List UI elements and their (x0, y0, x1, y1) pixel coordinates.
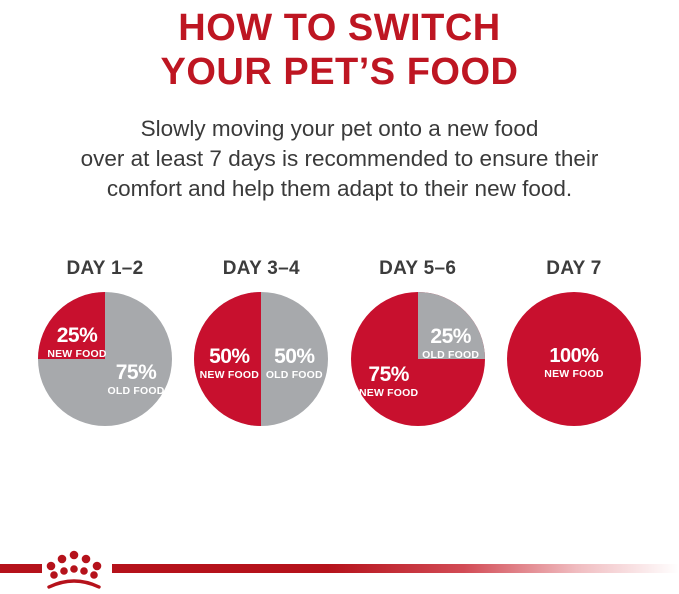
day-label-4: DAY 7 (546, 258, 601, 280)
intro-line-1: Slowly moving your pet onto a new food (0, 114, 679, 144)
intro-paragraph: Slowly moving your pet onto a new food o… (0, 114, 679, 204)
pie-slice-new-food-2 (194, 292, 261, 426)
crown-logo-icon (42, 542, 112, 590)
pie-slice-old-food-3 (418, 292, 485, 359)
pie-svg-4 (507, 292, 641, 426)
pie-slice-new-food-4 (507, 292, 641, 426)
pie-chart-day-3-4: DAY 3–4 50% NEW FOOD 50% OLD FOOD (186, 258, 336, 426)
pie-chart-day-7: DAY 7 100% NEW FOOD (499, 258, 649, 426)
page-title-line-2: YOUR PET’S FOOD (0, 50, 679, 94)
pie-graphic-4: 100% NEW FOOD (507, 292, 641, 426)
page-title-line-1: HOW TO SWITCH (0, 6, 679, 50)
day-label-3: DAY 5–6 (379, 258, 456, 280)
footer (0, 538, 679, 594)
pie-chart-row: DAY 1–2 25% NEW FOOD 75% OLD FOOD DAY 3–… (0, 258, 679, 426)
pie-chart-day-5-6: DAY 5–6 25% OLD FOOD 75% NEW FOOD (343, 258, 493, 426)
pie-graphic-1: 25% NEW FOOD 75% OLD FOOD (38, 292, 172, 426)
intro-line-2: over at least 7 days is recommended to e… (0, 144, 679, 174)
pie-graphic-3: 25% OLD FOOD 75% NEW FOOD (351, 292, 485, 426)
pie-svg-2 (194, 292, 328, 426)
day-label-1: DAY 1–2 (66, 258, 143, 280)
pie-slice-new-food-1 (38, 292, 105, 359)
pie-svg-1 (38, 292, 172, 426)
footer-rule-right (112, 564, 679, 573)
intro-line-3: comfort and help them adapt to their new… (0, 174, 679, 204)
footer-rule-left (0, 564, 42, 573)
pie-graphic-2: 50% NEW FOOD 50% OLD FOOD (194, 292, 328, 426)
pie-chart-day-1-2: DAY 1–2 25% NEW FOOD 75% OLD FOOD (30, 258, 180, 426)
day-label-2: DAY 3–4 (223, 258, 300, 280)
pie-svg-3 (351, 292, 485, 426)
page-title: HOW TO SWITCH YOUR PET’S FOOD (0, 0, 679, 94)
